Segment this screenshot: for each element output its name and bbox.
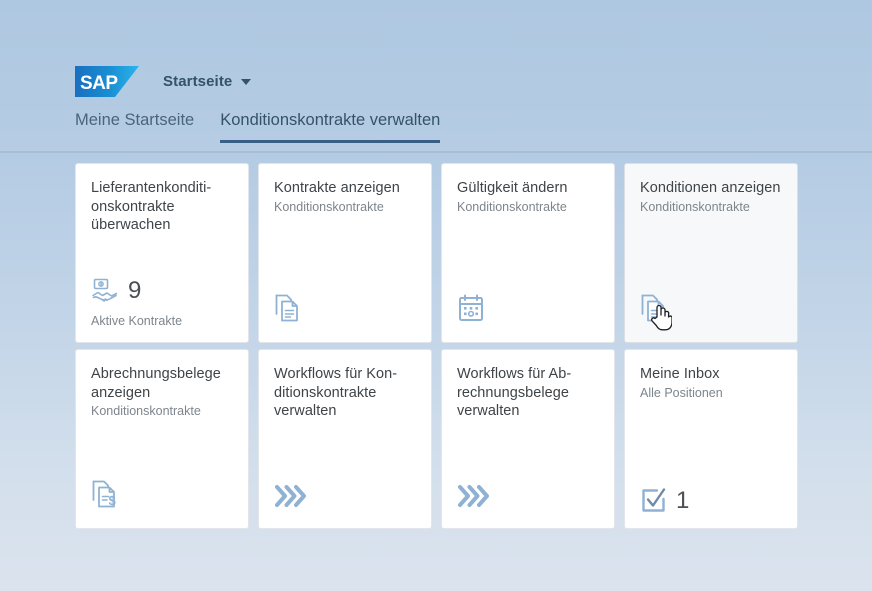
- header-divider: [0, 151, 872, 153]
- chevron-down-icon[interactable]: [241, 79, 251, 85]
- fiori-launchpad: SAP Startseite Meine Startseite Konditio…: [0, 0, 872, 591]
- tile-title: Abrechnungsbelege anzeigen: [91, 365, 233, 402]
- tile-title: Gültigkeit ändern: [457, 179, 599, 198]
- tile-kpi-value: 1: [676, 489, 689, 513]
- svg-text:SAP: SAP: [80, 73, 118, 94]
- tile-workflows-abrechnungsbelege-verwalten[interactable]: Workflows für Ab-rechnungsbelege verwalt…: [441, 349, 615, 529]
- tile-abrechnungsbelege-anzeigen[interactable]: Abrechnungsbelege anzeigen Konditionskon…: [75, 349, 249, 529]
- tile-footer: 1: [640, 487, 782, 514]
- triple-chevron-right-icon: [457, 483, 491, 509]
- tile-meine-inbox[interactable]: Meine Inbox Alle Positionen 1: [624, 349, 798, 529]
- tab-meine-startseite[interactable]: Meine Startseite: [75, 110, 194, 143]
- header-brand-area: SAP Startseite: [75, 66, 251, 97]
- checkbox-checked-icon: [640, 487, 667, 514]
- tile-kpi-row: 1: [640, 487, 782, 514]
- svg-text:$: $: [109, 493, 117, 508]
- document-money-icon: $: [91, 479, 119, 509]
- shell-header: SAP Startseite Meine Startseite Konditio…: [0, 0, 872, 152]
- tile-title: Lieferantenkonditi-onskontrakte überwach…: [91, 179, 233, 235]
- supplier-contract-handshake-icon: [91, 277, 119, 305]
- tile-grid: Lieferantenkonditi-onskontrakte überwach…: [75, 163, 798, 529]
- tile-workflows-konditionskontrakte-verwalten[interactable]: Workflows für Kon-ditionskontrakte verwa…: [258, 349, 432, 529]
- tile-title: Kontrakte anzeigen: [274, 179, 416, 198]
- tile-footer: 9 Aktive Kontrakte: [91, 277, 233, 328]
- tile-kpi-label: Aktive Kontrakte: [91, 314, 233, 328]
- tile-footer: [457, 293, 599, 328]
- tile-subtitle: Alle Positionen: [640, 385, 782, 402]
- sap-logo[interactable]: SAP: [75, 66, 139, 97]
- shell-title-button[interactable]: Startseite: [163, 73, 251, 90]
- tile-kpi-value: 9: [128, 279, 141, 303]
- tile-footer: $: [91, 479, 233, 514]
- tile-footer: [274, 293, 416, 328]
- tab-label: Meine Startseite: [75, 111, 194, 129]
- tile-konditionen-anzeigen[interactable]: Konditionen anzeigen Konditionskontrakte: [624, 163, 798, 343]
- tile-title: Meine Inbox: [640, 365, 782, 384]
- tile-title: Workflows für Kon-ditionskontrakte verwa…: [274, 365, 416, 421]
- tile-title: Konditionen anzeigen: [640, 179, 782, 198]
- triple-chevron-right-icon: [274, 483, 308, 509]
- tile-footer: [640, 293, 782, 328]
- tile-footer: [274, 483, 416, 514]
- tile-subtitle: Konditionskontrakte: [91, 403, 233, 420]
- page-tab-bar: Meine Startseite Konditionskontrakte ver…: [75, 110, 440, 143]
- calendar-icon: [457, 293, 485, 323]
- document-copy-icon: [640, 293, 668, 323]
- shell-title-label: Startseite: [163, 73, 232, 90]
- tile-footer: [457, 483, 599, 514]
- tile-title: Workflows für Ab-rechnungsbelege verwalt…: [457, 365, 599, 421]
- tile-kontrakte-anzeigen[interactable]: Kontrakte anzeigen Konditionskontrakte: [258, 163, 432, 343]
- tile-subtitle: Konditionskontrakte: [640, 199, 782, 216]
- tile-lieferantenkonditionskontrakte-ueberwachen[interactable]: Lieferantenkonditi-onskontrakte überwach…: [75, 163, 249, 343]
- tile-kpi-row: 9: [91, 277, 233, 305]
- tab-label: Konditionskontrakte verwalten: [220, 111, 440, 129]
- tile-subtitle: Konditionskontrakte: [457, 199, 599, 216]
- tile-gueltigkeit-aendern[interactable]: Gültigkeit ändern Konditionskontrakte: [441, 163, 615, 343]
- document-copy-icon: [274, 293, 302, 323]
- tile-subtitle: Konditionskontrakte: [274, 199, 416, 216]
- tab-konditionskontrakte-verwalten[interactable]: Konditionskontrakte verwalten: [220, 110, 440, 143]
